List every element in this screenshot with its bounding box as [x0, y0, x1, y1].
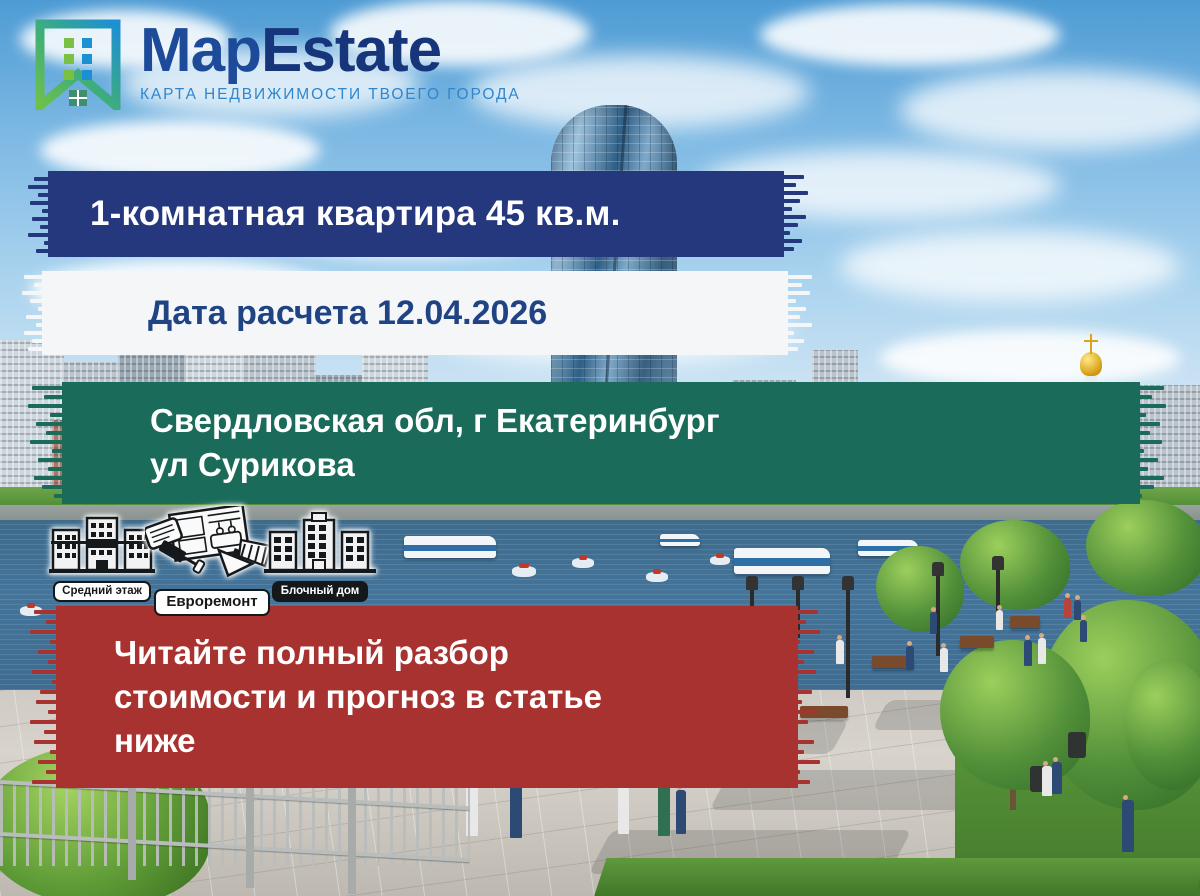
- person: [1052, 762, 1062, 794]
- cta-line-2: стоимости и прогноз в статье: [114, 675, 602, 719]
- lamp-head: [992, 556, 1004, 570]
- small-boat: [572, 558, 594, 568]
- bench: [1010, 616, 1040, 628]
- lamp-head: [746, 576, 758, 590]
- boat: [660, 534, 700, 546]
- lamp-head: [842, 576, 854, 590]
- brand-logo[interactable]: MapEstate КАРТА НЕДВИЖИМОСТИ ТВОЕГО ГОРО…: [34, 18, 521, 110]
- person: [940, 648, 948, 672]
- cta-line-3: ниже: [114, 719, 602, 763]
- address-banner: Свердловская обл, г Екатеринбург ул Сури…: [28, 382, 1166, 504]
- tree: [876, 546, 964, 632]
- park-lawn-front: [594, 858, 1200, 896]
- feature-badges: Средний этаж: [46, 512, 386, 608]
- bookmark-building-icon: [34, 18, 122, 110]
- person: [1042, 766, 1052, 796]
- cloud: [840, 230, 1180, 302]
- brand-name-part1: Map: [140, 16, 261, 85]
- small-boat: [512, 566, 536, 577]
- person: [1024, 640, 1032, 666]
- badge-block-house[interactable]: Блочный дом: [258, 512, 382, 602]
- cta-text: Читайте полный разбор стоимости и прогно…: [30, 631, 602, 764]
- trash-bin: [1068, 732, 1086, 758]
- person: [1064, 598, 1071, 618]
- person: [906, 646, 914, 670]
- person: [930, 612, 937, 634]
- boat: [734, 548, 830, 574]
- property-title-banner: 1-комнатная квартира 45 кв.м.: [28, 171, 808, 257]
- address-text: Свердловская обл, г Екатеринбург ул Сури…: [28, 399, 720, 486]
- person: [618, 786, 629, 834]
- address-line-1: Свердловская обл, г Екатеринбург: [150, 399, 720, 443]
- lamp-head: [932, 562, 944, 576]
- person: [836, 640, 844, 664]
- person: [1038, 638, 1046, 664]
- address-line-2: ул Сурикова: [150, 443, 720, 487]
- brand-name: MapEstate: [140, 22, 521, 81]
- calculation-date-text: Дата расчета 12.04.2026: [22, 294, 547, 333]
- cloud: [900, 70, 1200, 150]
- person: [676, 790, 686, 834]
- block-house-building-icon: [258, 512, 382, 579]
- person: [510, 782, 522, 838]
- bench: [960, 636, 994, 648]
- property-title-text: 1-комнатная квартира 45 кв.м.: [28, 194, 621, 234]
- badge-label: Евроремонт: [154, 589, 269, 616]
- person: [996, 610, 1003, 630]
- cta-line-1: Читайте полный разбор: [114, 631, 602, 675]
- badge-label: Средний этаж: [53, 581, 151, 602]
- brand-tagline: КАРТА НЕДВИЖИМОСТИ ТВОЕГО ГОРОДА: [140, 86, 521, 104]
- person: [1122, 800, 1134, 852]
- small-boat: [646, 572, 668, 582]
- boat: [404, 536, 496, 558]
- lamp-post: [846, 588, 850, 698]
- badge-label: Блочный дом: [272, 581, 369, 602]
- person: [658, 784, 670, 836]
- calculation-date-banner: Дата расчета 12.04.2026: [22, 271, 812, 355]
- cta-banner: Читайте полный разбор стоимости и прогно…: [30, 606, 820, 788]
- small-boat: [710, 556, 730, 565]
- lamp-head: [792, 576, 804, 590]
- person: [1080, 620, 1087, 642]
- cloud: [760, 4, 1060, 66]
- brand-name-part2: Estate: [261, 16, 441, 85]
- person: [1074, 600, 1081, 620]
